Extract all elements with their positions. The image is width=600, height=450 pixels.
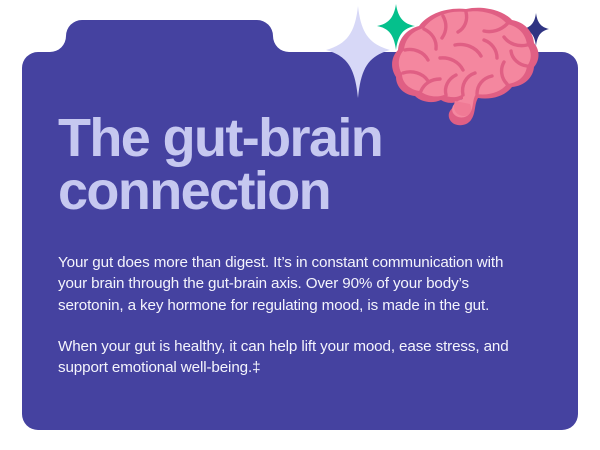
body-paragraph-2: When your gut is healthy, it can help li… — [58, 336, 536, 379]
page-title: The gut-brain connection — [58, 112, 550, 218]
sparkle-teal-icon — [377, 4, 415, 50]
body-copy: Your gut does more than digest. It’s in … — [58, 252, 536, 379]
brain-icon — [392, 8, 538, 126]
sparkle-lavender-icon — [326, 6, 390, 98]
sparkle-navy-icon — [523, 13, 549, 46]
infographic-card-canvas: The gut-brain connection Your gut does m… — [0, 0, 600, 450]
body-paragraph-1: Your gut does more than digest. It’s in … — [58, 252, 536, 317]
card-text-content: The gut-brain connection Your gut does m… — [58, 112, 550, 379]
